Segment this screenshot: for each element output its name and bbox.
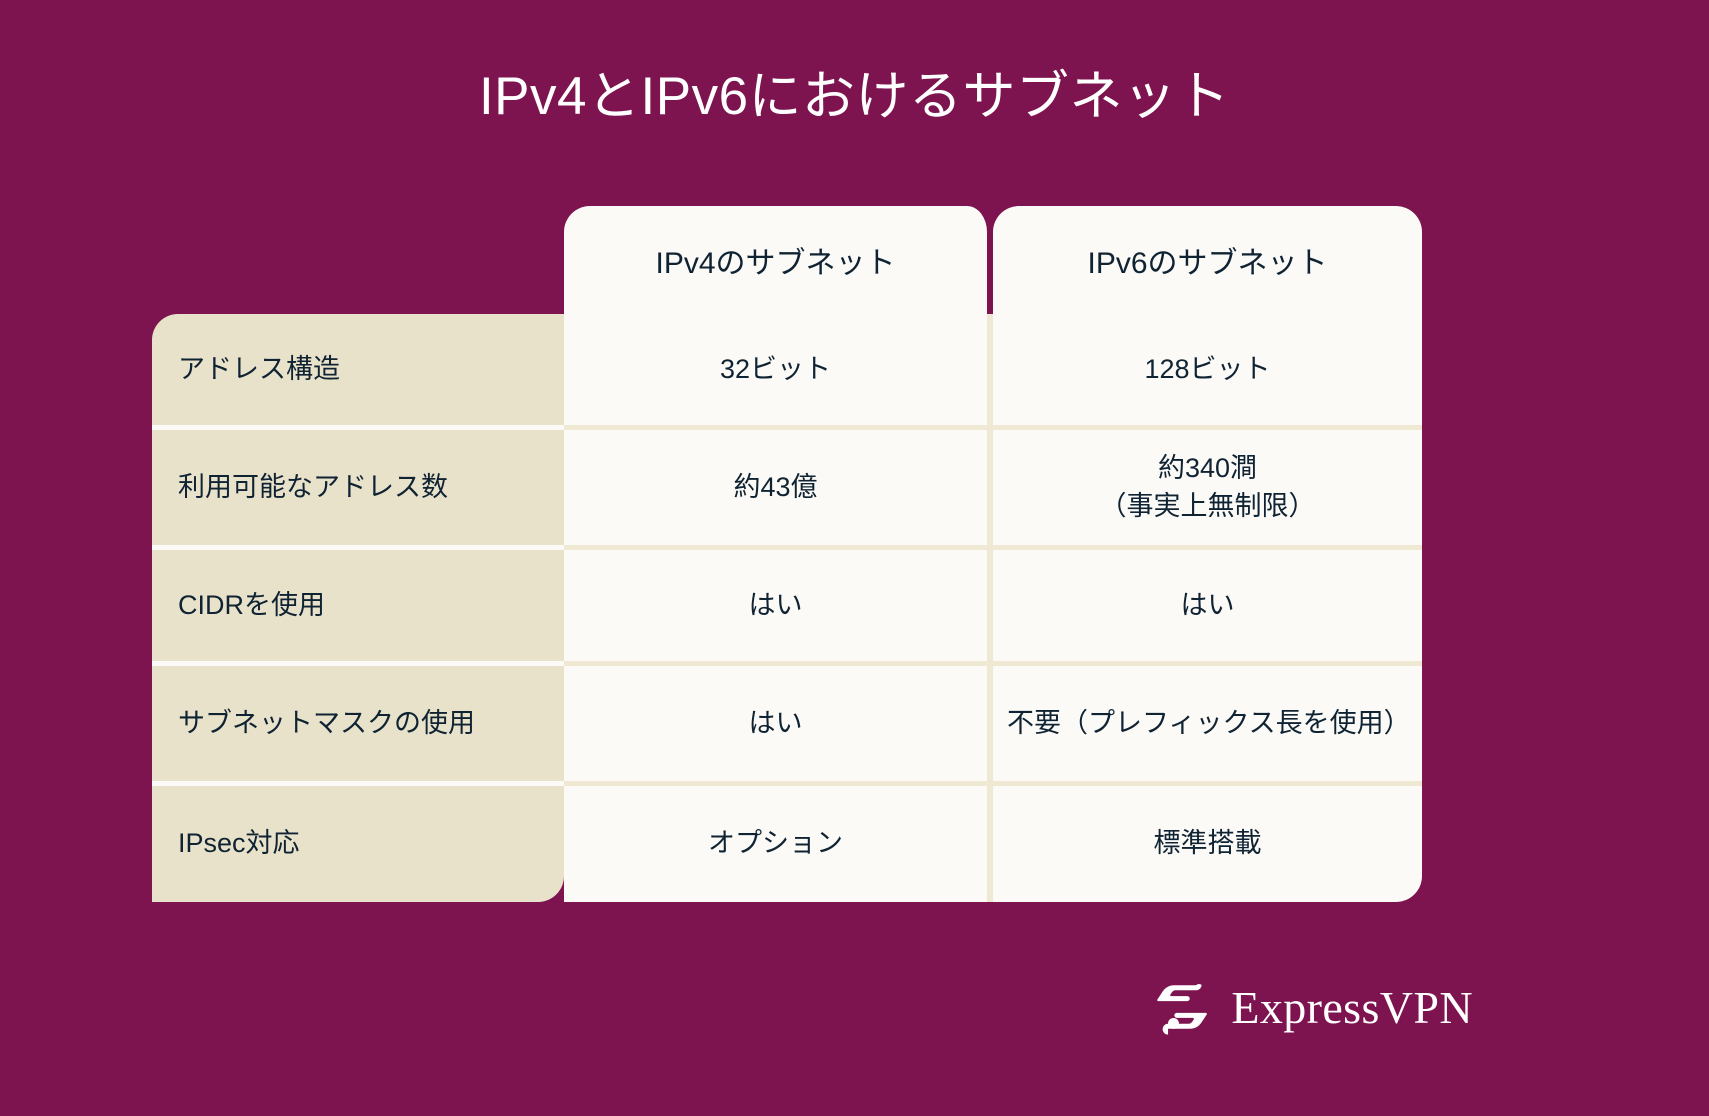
cell-ipv6: 128ビット: [993, 314, 1422, 430]
column-header-ipv6: IPv6のサブネット: [993, 206, 1422, 314]
table-row: アドレス構造 32ビット 128ビット: [152, 314, 1422, 430]
row-label: アドレス構造: [152, 314, 564, 430]
cell-ipv4: 32ビット: [564, 314, 993, 430]
table-row: 利用可能なアドレス数 約43億 約340澗（事実上無制限）: [152, 430, 1422, 550]
brand-logo: ExpressVPN: [1151, 976, 1473, 1038]
row-label: サブネットマスクの使用: [152, 666, 564, 786]
table-row: CIDRを使用 はい はい: [152, 550, 1422, 666]
cell-ipv6: 標準搭載: [993, 786, 1422, 902]
cell-ipv4: はい: [564, 550, 993, 666]
table-row: サブネットマスクの使用 はい 不要（プレフィックス長を使用）: [152, 666, 1422, 786]
row-label: 利用可能なアドレス数: [152, 430, 564, 550]
row-label: IPsec対応: [152, 786, 564, 902]
cell-ipv4: 約43億: [564, 430, 993, 550]
brand-logo-text: ExpressVPN: [1231, 981, 1473, 1034]
table-body: アドレス構造 32ビット 128ビット 利用可能なアドレス数 約43億 約340…: [152, 314, 1422, 902]
page-title: IPv4とIPv6におけるサブネット: [0, 64, 1709, 130]
cell-ipv4: はい: [564, 666, 993, 786]
comparison-table: IPv4のサブネット IPv6のサブネット アドレス構造 32ビット 128ビッ…: [152, 206, 1422, 902]
column-header-blank: [152, 206, 564, 314]
column-header-ipv4: IPv4のサブネット: [564, 206, 993, 314]
cell-ipv4: オプション: [564, 786, 993, 902]
cell-ipv6: はい: [993, 550, 1422, 666]
table-header-row: IPv4のサブネット IPv6のサブネット: [152, 206, 1422, 314]
slide-canvas: IPv4とIPv6におけるサブネット IPv4のサブネット IPv6のサブネット…: [0, 0, 1709, 1116]
cell-ipv6: 不要（プレフィックス長を使用）: [993, 666, 1422, 786]
table-header: IPv4のサブネット IPv6のサブネット: [152, 206, 1422, 314]
row-label: CIDRを使用: [152, 550, 564, 666]
comparison-table-container: IPv4のサブネット IPv6のサブネット アドレス構造 32ビット 128ビッ…: [152, 206, 1422, 886]
cell-ipv6: 約340澗（事実上無制限）: [993, 430, 1422, 550]
expressvpn-e-mark-icon: [1151, 976, 1213, 1038]
table-row: IPsec対応 オプション 標準搭載: [152, 786, 1422, 902]
